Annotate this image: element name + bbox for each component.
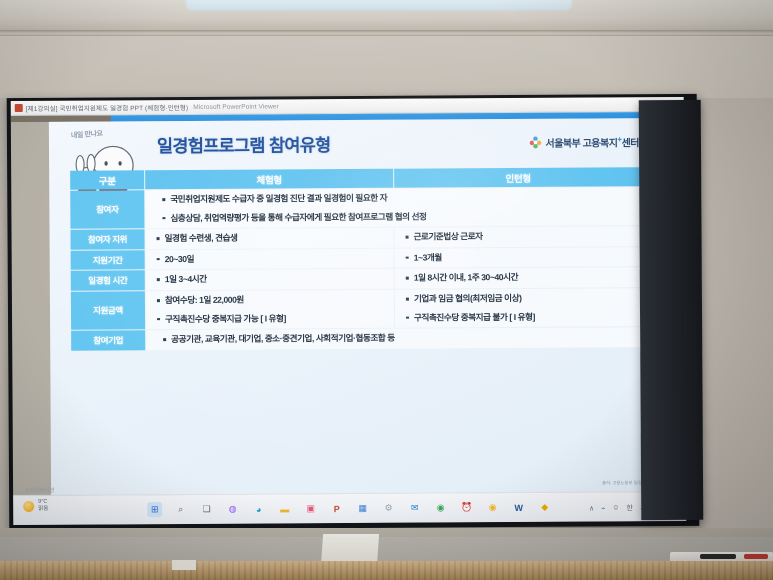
person-icon[interactable]: ☺ <box>612 504 619 511</box>
marker-red <box>744 554 768 559</box>
row-content-internship: 1일 8시간 이내, 1주 30~40시간 <box>395 268 643 289</box>
brand-name: 서울북부 고용복지+센터 <box>545 134 639 150</box>
sun-icon <box>23 501 34 512</box>
bullet-item: 국민취업지원제도 수급자 중 일경험 진단 결과 일경험이 필요한 자 <box>161 191 636 205</box>
chrome-alt-icon[interactable]: ◉ <box>485 500 500 515</box>
participation-type-table: 구분 체험형 인턴형 참여자 국민취업지원제도 수급자 중 일경험 진단 결과 … <box>69 166 644 351</box>
table-row: 참여자 국민취업지원제도 수급자 중 일경험 진단 결과 일경험이 필요한 자 … <box>70 187 642 229</box>
slide-title: 일경험프로그램 참여유형 <box>157 132 331 158</box>
row-label: 지원금액 <box>71 291 145 330</box>
task-view-icon[interactable]: ❏ <box>199 502 214 517</box>
windows-taskbar[interactable]: 프레젠테이션 9°C 맑음 ⊞ ⌕ ❏ ◍ ◕ ▬ ▣ P ▦ ⚙ ✉ <box>13 491 686 525</box>
edge-icon[interactable]: ◕ <box>251 502 266 517</box>
taskbar-window-label: 프레젠테이션 <box>25 486 54 494</box>
screen-side-shade <box>639 100 704 520</box>
store-icon[interactable]: ▦ <box>355 501 370 516</box>
row-content-merged: 공공기관, 교육기관, 대기업, 중소·중견기업, 사회적기업·협동조합 등 <box>146 327 643 350</box>
bullet-item: 기업과 임금 협의(최저임금 이상) <box>405 292 637 305</box>
alarm-icon[interactable]: ⏰ <box>459 500 474 515</box>
ceiling-light <box>186 0 572 10</box>
bullet-item: 20~30일 <box>156 253 388 266</box>
photos-icon[interactable]: ▣ <box>303 501 318 516</box>
window-title: [제1강의실] 국민취업지원제도 일경험 PPT (체험형·인턴형) <box>26 102 189 113</box>
organization-brand: 서울북부 고용복지+센터 <box>528 134 639 150</box>
note-paper <box>172 560 196 570</box>
column-header-category: 구분 <box>70 170 144 189</box>
bullet-item: 1일 8시간 이내, 1주 30~40시간 <box>405 272 637 285</box>
bullet-item: 근로기준법상 근로자 <box>405 230 637 243</box>
row-content-experience: 1일 3~4시간 <box>146 269 394 290</box>
chat-icon[interactable]: ◍ <box>225 502 240 517</box>
table-row: 일경험 시간 1일 3~4시간 1일 8시간 이내, 1주 30~40시간 <box>71 268 643 291</box>
bullet-item: 1일 3~4시간 <box>156 273 388 286</box>
start-icon[interactable]: ⊞ <box>147 502 162 517</box>
tray-overflow-icon[interactable]: ∧ <box>589 504 594 512</box>
weather-widget[interactable]: 9°C 맑음 <box>23 499 48 514</box>
table-row: 참여기업 공공기관, 교육기관, 대기업, 중소·중견기업, 사회적기업·협동조… <box>71 327 643 350</box>
taskbar-icon-row[interactable]: ⊞ ⌕ ❏ ◍ ◕ ▬ ▣ P ▦ ⚙ ✉ ◉ ⏰ ◉ W ◆ <box>147 500 552 517</box>
ime-indicator[interactable]: 한 <box>626 503 633 513</box>
desk-shade <box>0 561 773 580</box>
powerpoint-icon <box>15 104 23 112</box>
search-icon[interactable]: ⌕ <box>173 502 188 517</box>
table-header-row: 구분 체험형 인턴형 <box>70 167 642 189</box>
row-label: 참여자 지위 <box>70 229 144 249</box>
row-content-experience: 참여수당: 1일 22,000원 구직촉진수당 중복지급 가능 [ I 유형] <box>146 290 394 330</box>
word-icon[interactable]: W <box>511 500 526 515</box>
kakao-icon[interactable]: ◆ <box>537 500 552 515</box>
row-content-internship: 근로기준법상 근로자 <box>394 226 642 247</box>
bullet-item: 구직촉진수당 중복지급 불가 [ I 유형] <box>405 311 637 324</box>
wall-upper <box>0 36 773 98</box>
column-header-internship: 인턴형 <box>394 167 642 188</box>
presentation-slide: 내일 만나요 일경험프로그램 참여유형 <box>49 118 671 496</box>
bullet-item: 심층상담, 취업역량평가 등을 통해 수급자에게 필요한 참여프로그램 협의 선… <box>161 210 636 224</box>
column-header-experience: 체험형 <box>145 169 393 190</box>
table-row: 지원기간 20~30일 1~3개월 <box>71 247 643 270</box>
row-label: 일경험 시간 <box>71 271 145 291</box>
bullet-item: 구직촉진수당 중복지급 가능 [ I 유형] <box>156 312 388 325</box>
bullet-item: 참여수당: 1일 22,000원 <box>156 294 388 307</box>
row-content-internship: 1~3개월 <box>395 247 643 268</box>
weather-condition: 맑음 <box>38 506 48 513</box>
settings-icon[interactable]: ⚙ <box>381 501 396 516</box>
weather-text: 9°C 맑음 <box>38 499 48 514</box>
row-content-experience: 20~30일 <box>146 249 394 270</box>
row-label: 참여자 <box>70 190 144 229</box>
row-content-merged: 국민취업지원제도 수급자 중 일경험 진단 결과 일경험이 필요한 자 심층상담… <box>145 187 642 228</box>
windows-desktop: [제1강의실] 국민취업지원제도 일경험 PPT (체험형·인턴형) Micro… <box>11 97 687 525</box>
chrome-icon[interactable]: ◉ <box>433 500 448 515</box>
bullet-item: 1~3개월 <box>405 251 637 264</box>
bullet-item: 공공기관, 교육기관, 대기업, 중소·중견기업, 사회적기업·협동조합 등 <box>162 331 637 345</box>
table-row: 참여자 지위 일경험 수련생, 견습생 근로기준법상 근로자 <box>70 226 642 249</box>
powerpoint-icon[interactable]: P <box>329 501 344 516</box>
network-icon[interactable]: ⌁ <box>601 504 605 512</box>
row-label: 참여기업 <box>71 330 145 350</box>
marker-black <box>700 554 736 559</box>
row-content-internship: 기업과 임금 협의(최저임금 이상) 구직촉진수당 중복지급 불가 [ I 유형… <box>395 288 643 328</box>
row-label: 지원기간 <box>71 250 145 270</box>
ministry-logo-icon <box>528 136 541 149</box>
table-row: 지원금액 참여수당: 1일 22,000원 구직촉진수당 중복지급 가능 [ I… <box>71 288 643 330</box>
whiteboard <box>0 537 773 563</box>
window-app-name: Microsoft PowerPoint Viewer <box>193 103 279 111</box>
file-explorer-icon[interactable]: ▬ <box>277 501 292 516</box>
room-photo: [제1강의실] 국민취업지원제도 일경험 PPT (체험형·인턴형) Micro… <box>0 0 773 580</box>
bullet-item: 일경험 수련생, 견습생 <box>156 232 388 245</box>
mail-icon[interactable]: ✉ <box>407 501 422 516</box>
row-content-experience: 일경험 수련생, 견습생 <box>145 228 393 249</box>
